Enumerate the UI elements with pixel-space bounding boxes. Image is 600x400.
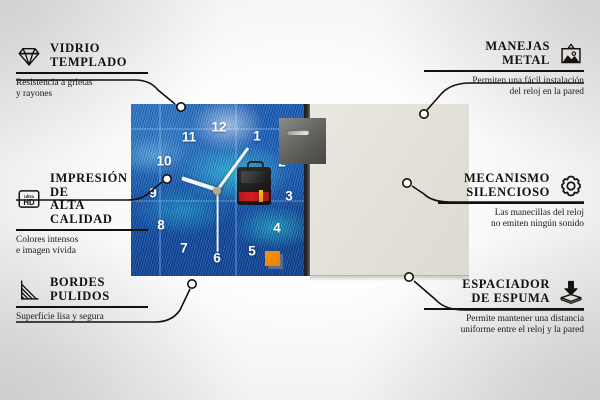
feature-title: VIDRIO TEMPLADO: [50, 42, 127, 69]
feature-divider: [424, 70, 584, 72]
foam-spacer: [265, 251, 280, 266]
feature-subtitle: Las manecillas del reloj no emiten ningú…: [438, 208, 584, 231]
clock-numeral-9: 9: [149, 186, 157, 200]
clock-numeral-7: 7: [180, 241, 188, 255]
clock-numeral-4: 4: [273, 221, 281, 235]
svg-text:HD: HD: [23, 198, 35, 207]
feature-impresion-alta-calidad[interactable]: ultra HD IMPRESIÓN DE ALTA CALIDAD Color…: [16, 172, 148, 257]
clock-numeral-8: 8: [157, 218, 165, 232]
infographic-canvas: 12 1 2 3 4 5 6 7 8 9 10 11: [0, 0, 600, 400]
gear-icon: [558, 173, 584, 199]
hanger-slot: [287, 130, 309, 135]
clock-numeral-5: 5: [248, 244, 256, 258]
feature-manejas-metal[interactable]: MANEJAS METAL Permiten una fácil instala…: [424, 40, 584, 98]
feature-divider: [16, 72, 148, 74]
ultra-hd-icon: ultra HD: [16, 186, 42, 212]
movement-highlight: [241, 171, 265, 183]
feature-subtitle: Permite mantener una distancia uniforme …: [424, 314, 584, 337]
feature-title: BORDES PULIDOS: [50, 276, 110, 303]
polished-edge-icon: [16, 277, 42, 303]
feature-subtitle: Colores intensos e imagen vívida: [16, 235, 148, 258]
feature-subtitle: Permiten una fácil instalación del reloj…: [424, 76, 584, 99]
clock-center-cap: [213, 187, 221, 195]
movement-red-label: [239, 192, 269, 201]
feature-title: IMPRESIÓN DE ALTA CALIDAD: [50, 172, 148, 226]
feature-divider: [424, 308, 584, 310]
feature-title: MECANISMO SILENCIOSO: [464, 172, 550, 199]
feature-vidrio-templado[interactable]: VIDRIO TEMPLADO Resistencia a grietas y …: [16, 42, 148, 100]
clock-second-hand: [217, 190, 219, 252]
feature-bordes-pulidos[interactable]: BORDES PULIDOS Superficie lisa y segura: [16, 276, 148, 323]
metal-hanger-plate: [279, 118, 326, 164]
picture-frame-hanger-icon: [558, 41, 584, 67]
clock-numeral-11: 11: [182, 130, 196, 144]
anchor-dot-bordes: [188, 280, 196, 288]
movement-hanger-lug: [247, 161, 264, 171]
clock-numeral-10: 10: [156, 154, 171, 168]
clock-numeral-12: 12: [211, 120, 226, 134]
feature-divider: [16, 229, 148, 231]
feature-title: ESPACIADOR DE ESPUMA: [462, 278, 550, 305]
feature-subtitle: Resistencia a grietas y rayones: [16, 78, 148, 101]
clock-numeral-6: 6: [213, 251, 221, 265]
feature-mecanismo-silencioso[interactable]: MECANISMO SILENCIOSO Las manecillas del …: [438, 172, 584, 230]
feature-title: MANEJAS METAL: [485, 40, 550, 67]
clock-numeral-1: 1: [253, 129, 261, 143]
feature-subtitle: Superficie lisa y segura: [16, 312, 148, 323]
arrow-down-pad-icon: [558, 279, 584, 305]
clock-numeral-3: 3: [285, 189, 293, 203]
feature-espaciador-espuma[interactable]: ESPACIADOR DE ESPUMA Permite mantener un…: [424, 278, 584, 336]
feature-divider: [16, 306, 148, 308]
diamond-icon: [16, 43, 42, 69]
feature-divider: [438, 202, 584, 204]
